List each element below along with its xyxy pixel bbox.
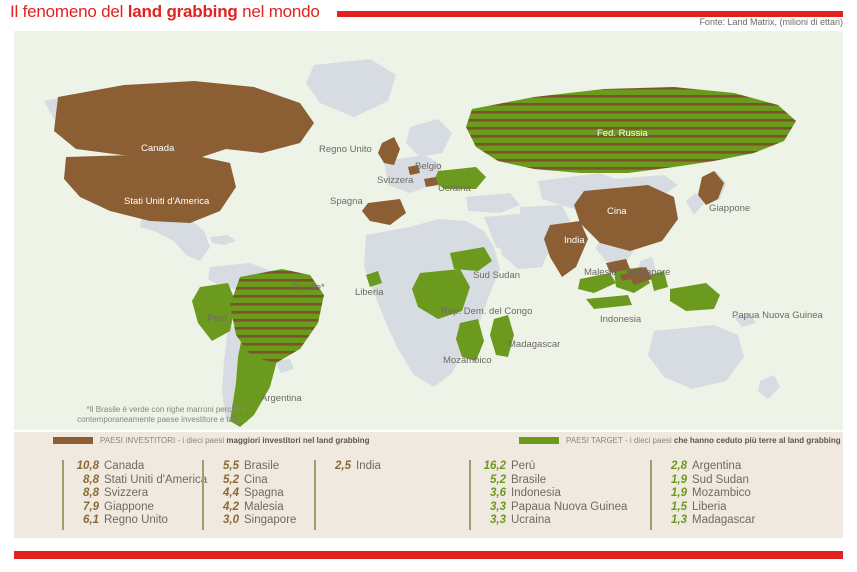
data-column-investors-1: 10,8Canada8,8Stati Uniti d'America8,8Svi… [62, 460, 207, 530]
data-row-value: 5,2 [480, 474, 506, 488]
data-row: 3,3Papaua Nuova Guinea [480, 501, 627, 515]
map-label-madagascar: Madagascar [508, 339, 560, 350]
title-prefix: Il fenomeno del [10, 2, 128, 21]
map-label-giappone: Giappone [709, 203, 750, 214]
data-list: 16,2Perù5,2Brasile3,6Indonesia3,3Papaua … [480, 460, 627, 528]
map-label-peru: Perù [207, 313, 227, 324]
data-row-label: India [356, 460, 381, 474]
data-row-label: Canada [104, 460, 144, 474]
data-row-label: Singapore [244, 514, 296, 528]
data-row-label: Malesia [244, 501, 284, 515]
map-label-belgio: Belgio [415, 161, 441, 172]
data-row-label: Argentina [692, 460, 741, 474]
data-row: 7,9Giappone [73, 501, 207, 515]
data-row-value: 1,9 [661, 487, 687, 501]
data-row: 6,1Regno Unito [73, 514, 207, 528]
data-row: 5,2Brasile [480, 474, 627, 488]
data-row-value: 8,8 [73, 474, 99, 488]
world-map: Canada Stati Uniti d'America Regno Unito… [14, 31, 843, 430]
data-row-label: Giappone [104, 501, 154, 515]
legend-item-investors: PAESI INVESTITORI - i dieci paesi maggio… [53, 436, 370, 445]
map-label-sud-sudan: Sud Sudan [473, 270, 520, 281]
data-row-label: Madagascar [692, 514, 755, 528]
map-label-stati-uniti: Stati Uniti d'America [124, 196, 209, 207]
header: Il fenomeno del land grabbing nel mondo … [0, 0, 857, 32]
data-row: 16,2Perù [480, 460, 627, 474]
data-row: 2,5India [325, 460, 381, 474]
data-column-investors-3: 2,5India [314, 460, 381, 530]
map-label-india: India [564, 235, 585, 246]
legend-investors-separator: - i dieci paesi [175, 436, 226, 445]
map-label-spagna: Spagna [330, 196, 363, 207]
legend-swatch-investor-icon [53, 437, 93, 444]
data-column-targets-2: 2,8Argentina1,9Sud Sudan1,9Mozambico1,5L… [650, 460, 755, 530]
data-row-value: 1,3 [661, 514, 687, 528]
data-row: 1,3Madagascar [661, 514, 755, 528]
data-row-value: 3,3 [480, 501, 506, 515]
data-row: 5,2Cina [213, 474, 296, 488]
legend-targets-caption: PAESI TARGET [566, 436, 623, 445]
map-label-brasile: Brasile* [292, 282, 325, 293]
legend-investors-caption: PAESI INVESTITORI [100, 436, 175, 445]
data-row-value: 1,9 [661, 474, 687, 488]
legend-investors-text: PAESI INVESTITORI - i dieci paesi maggio… [100, 436, 370, 445]
map-label-argentina: Argentina [261, 393, 302, 404]
data-row-label: Sud Sudan [692, 474, 749, 488]
page-title: Il fenomeno del land grabbing nel mondo [10, 2, 320, 22]
data-row: 2,8Argentina [661, 460, 755, 474]
map-label-ucraina: Ucraina [438, 183, 471, 194]
map-label-regno-unito: Regno Unito [319, 144, 372, 155]
data-row: 3,6Indonesia [480, 487, 627, 501]
data-row-value: 6,1 [73, 514, 99, 528]
data-row-label: Regno Unito [104, 514, 168, 528]
data-row-label: Brasile [511, 474, 546, 488]
data-row-label: Ucraina [511, 514, 551, 528]
data-row-label: Spagna [244, 487, 284, 501]
data-row-value: 2,8 [661, 460, 687, 474]
data-row-label: Svizzera [104, 487, 148, 501]
map-label-indonesia: Indonesia [600, 314, 641, 325]
map-label-liberia: Liberia [355, 287, 384, 298]
data-row: 4,2Malesia [213, 501, 296, 515]
data-row-value: 3,3 [480, 514, 506, 528]
data-row-value: 4,4 [213, 487, 239, 501]
map-label-cina: Cina [607, 206, 627, 217]
map-label-fed-russia: Fed. Russia [597, 128, 648, 139]
map-label-svizzera: Svizzera [377, 175, 413, 186]
title-suffix: nel mondo [238, 2, 320, 21]
data-row-value: 5,5 [213, 460, 239, 474]
source-note: Fonte: Land Matrix, (milioni di ettari) [699, 17, 843, 27]
footer-rule [14, 551, 843, 559]
data-row-value: 3,0 [213, 514, 239, 528]
map-label-mozambico: Mozambico [443, 355, 492, 366]
legend-investors-emphasis: maggiori investitori nel land grabbing [226, 436, 369, 445]
map-label-canada: Canada [141, 143, 174, 154]
data-row: 8,8Svizzera [73, 487, 207, 501]
data-panel: 10,8Canada8,8Stati Uniti d'America8,8Svi… [14, 452, 843, 538]
legend-swatch-target-icon [519, 437, 559, 444]
data-row: 3,0Singapore [213, 514, 296, 528]
data-column-investors-2: 5,5Brasile5,2Cina4,4Spagna4,2Malesia3,0S… [202, 460, 296, 530]
data-list: 5,5Brasile5,2Cina4,4Spagna4,2Malesia3,0S… [213, 460, 296, 528]
data-row-value: 2,5 [325, 460, 351, 474]
data-list: 2,8Argentina1,9Sud Sudan1,9Mozambico1,5L… [661, 460, 755, 528]
legend-targets-separator: - i dieci paesi [623, 436, 674, 445]
data-row-label: Indonesia [511, 487, 561, 501]
world-map-svg [14, 31, 843, 430]
data-column-targets-1: 16,2Perù5,2Brasile3,6Indonesia3,3Papaua … [469, 460, 627, 530]
legend-targets-emphasis: che hanno ceduto più terre al land grabb… [674, 436, 841, 445]
data-row-value: 5,2 [213, 474, 239, 488]
data-row-label: Brasile [244, 460, 279, 474]
data-row-label: Mozambico [692, 487, 751, 501]
data-row-label: Stati Uniti d'America [104, 474, 207, 488]
data-row-value: 3,6 [480, 487, 506, 501]
data-row-value: 8,8 [73, 487, 99, 501]
data-row-label: Perù [511, 460, 535, 474]
legend: PAESI INVESTITORI - i dieci paesi maggio… [14, 432, 843, 452]
map-label-rep-dem-congo: Rep. Dem. del Congo [441, 306, 532, 317]
data-row-value: 10,8 [73, 460, 99, 474]
data-row: 3,3Ucraina [480, 514, 627, 528]
map-label-papua-nuova-guinea: Papua Nuova Guinea [732, 310, 823, 321]
legend-targets-text: PAESI TARGET - i dieci paesi che hanno c… [566, 436, 841, 445]
data-row: 4,4Spagna [213, 487, 296, 501]
map-label-singapore: Singapore [627, 267, 670, 278]
title-emphasis: land grabbing [128, 2, 238, 21]
data-row-value: 7,9 [73, 501, 99, 515]
data-row: 5,5Brasile [213, 460, 296, 474]
data-row: 1,5Liberia [661, 501, 755, 515]
map-footnote: *Il Brasile è verde con righe marroni pe… [42, 405, 247, 425]
data-row: 10,8Canada [73, 460, 207, 474]
map-label-malesia: Malesia [584, 267, 617, 278]
data-list: 10,8Canada8,8Stati Uniti d'America8,8Svi… [73, 460, 207, 528]
data-row-value: 1,5 [661, 501, 687, 515]
data-row-label: Liberia [692, 501, 727, 515]
data-row: 8,8Stati Uniti d'America [73, 474, 207, 488]
legend-item-targets: PAESI TARGET - i dieci paesi che hanno c… [519, 436, 841, 445]
data-list: 2,5India [325, 460, 381, 474]
data-row-value: 4,2 [213, 501, 239, 515]
data-row: 1,9Mozambico [661, 487, 755, 501]
data-row-label: Papaua Nuova Guinea [511, 501, 627, 515]
data-row-label: Cina [244, 474, 268, 488]
data-row-value: 16,2 [480, 460, 506, 474]
data-row: 1,9Sud Sudan [661, 474, 755, 488]
